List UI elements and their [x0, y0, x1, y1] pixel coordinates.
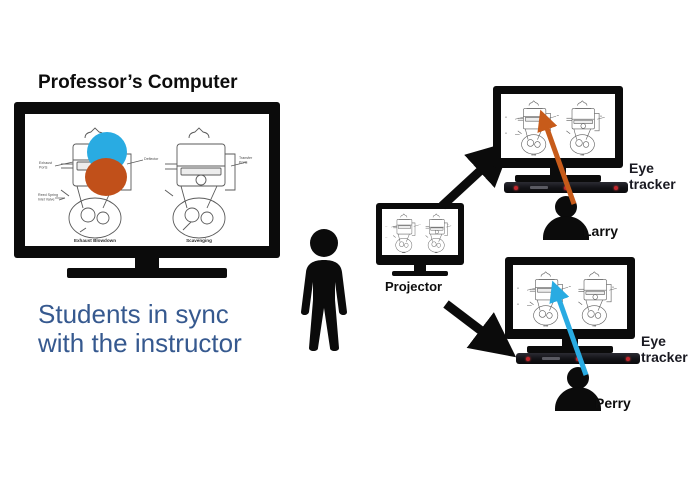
- svg-text:—: —: [385, 237, 388, 239]
- svg-text:▪▪▪: ▪▪▪: [435, 251, 438, 254]
- svg-text:▪▪: ▪▪: [600, 114, 602, 118]
- eye-tracker-led: [514, 186, 518, 190]
- professor-monitor-base: [67, 268, 227, 278]
- svg-text:▪▪: ▪▪: [505, 131, 507, 135]
- eye-tracker-led: [526, 357, 530, 361]
- svg-text:—: —: [385, 226, 388, 228]
- projector-label: Projector: [385, 279, 442, 294]
- gaze-arrow-perry: [540, 281, 600, 381]
- student-name-larry: Larry: [583, 223, 618, 239]
- eye-tracker-led: [626, 357, 630, 361]
- student-name-perry: Perry: [595, 395, 631, 411]
- eye-tracker-label-line2: tracker: [641, 350, 688, 366]
- eye-tracker-label-larry: Eye tracker: [629, 161, 676, 192]
- instructor-figure: [296, 227, 352, 361]
- professor-monitor-screen: Exhaust Ports Deflector Transfer Ports R…: [25, 114, 269, 246]
- engine-diagram-professor: Exhaust Ports Deflector Transfer Ports R…: [25, 114, 269, 246]
- eye-tracker-led: [614, 186, 618, 190]
- svg-text:Ports: Ports: [239, 161, 248, 165]
- professor-monitor-bezel: Exhaust Ports Deflector Transfer Ports R…: [14, 102, 280, 258]
- eye-tracker-label-perry: Eye tracker: [641, 334, 688, 365]
- engine-label-transfer-ports: Transfer: [239, 156, 253, 160]
- svg-text:▪▪: ▪▪: [505, 115, 507, 119]
- engine-diagram-projector: — — — — ▪▪▪▪ ▪▪▪: [382, 209, 458, 255]
- projector-monitor: — — — — ▪▪▪▪ ▪▪▪: [376, 203, 464, 275]
- slide-canvas: Professor’s Computer: [0, 0, 695, 494]
- engine-label-exhaust-ports: Exhaust: [39, 161, 52, 165]
- eye-tracker-label-line2: tracker: [629, 177, 676, 193]
- projector-monitor-bezel: — — — — ▪▪▪▪ ▪▪▪: [376, 203, 464, 265]
- projector-to-perry-arrow: [442, 298, 512, 356]
- eye-tracker-label-line1: Eye: [629, 161, 676, 177]
- professor-monitor: Exhaust Ports Deflector Transfer Ports R…: [14, 102, 280, 272]
- sync-caption-line1: Students in sync: [38, 300, 242, 329]
- eye-tracker-label-line1: Eye: [641, 334, 688, 350]
- page-title: Professor’s Computer: [38, 72, 238, 94]
- svg-text:—: —: [419, 224, 422, 226]
- sync-caption-line2: with the instructor: [38, 329, 242, 358]
- projector-monitor-screen: — — — — ▪▪▪▪ ▪▪▪: [382, 209, 458, 255]
- sync-caption: Students in sync with the instructor: [38, 300, 242, 358]
- engine-caption-right: Scavenging: [186, 238, 212, 243]
- engine-caption-left: Exhaust Blowdown: [74, 238, 116, 243]
- svg-text:▪▪: ▪▪: [612, 285, 614, 289]
- svg-text:▪▪: ▪▪: [517, 302, 519, 306]
- gaze-arrow-larry: [528, 110, 588, 210]
- engine-label-reed-spring: Reed Spring: [38, 193, 58, 197]
- orange-gaze-blob: [85, 158, 127, 196]
- engine-label-deflector: Deflector: [144, 157, 159, 161]
- projector-monitor-base: [392, 271, 448, 276]
- svg-text:Inlet Valve: Inlet Valve: [38, 198, 55, 202]
- svg-text:Ports: Ports: [39, 166, 48, 170]
- svg-text:▪▪▪▪: ▪▪▪▪: [402, 251, 406, 254]
- svg-text:▪▪: ▪▪: [517, 286, 519, 290]
